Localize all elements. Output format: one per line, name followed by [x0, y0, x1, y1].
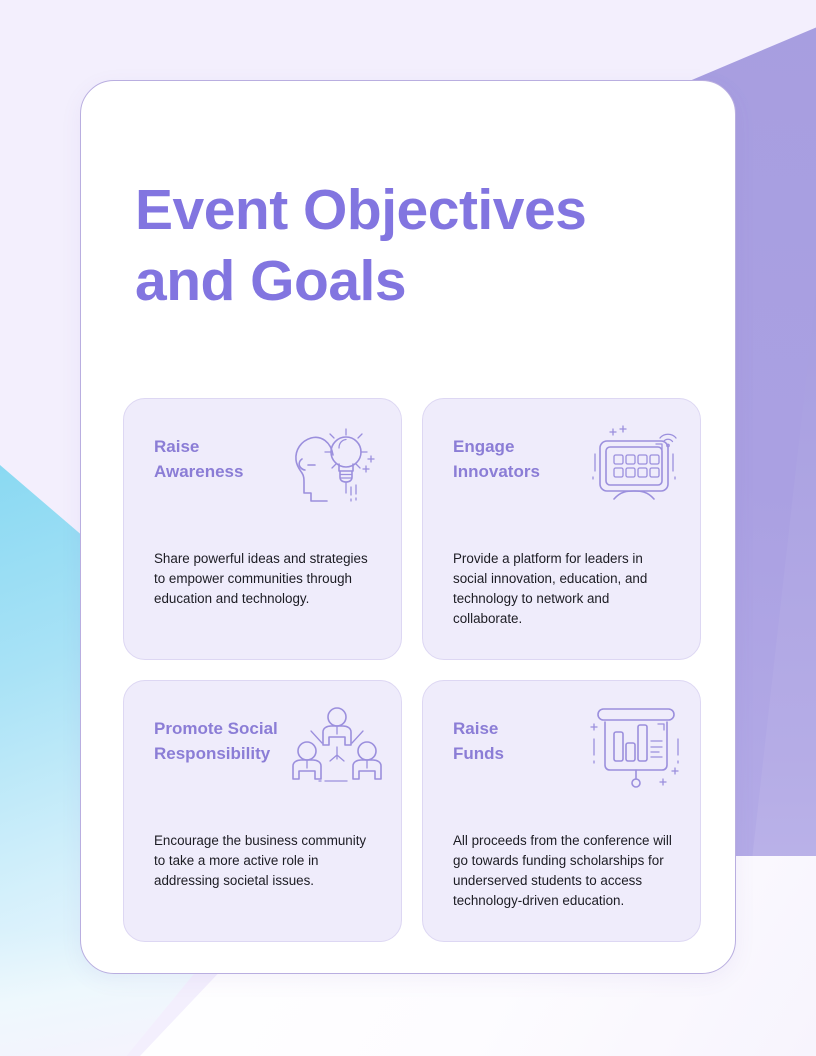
three-people-network-icon	[289, 703, 385, 793]
head-lightbulb-icon	[289, 421, 385, 511]
presentation-bar-chart-icon	[588, 703, 684, 793]
objective-card-title: Raise Funds	[453, 717, 593, 766]
objective-card-title: Engage Innovators	[453, 435, 593, 484]
objective-card-engage-innovators[interactable]: Engage Innovators	[422, 398, 701, 660]
objective-card-description: Encourage the business community to take…	[154, 831, 379, 891]
objective-card-raise-awareness[interactable]: Raise Awareness	[123, 398, 402, 660]
objective-card-raise-funds[interactable]: Raise Funds	[422, 680, 701, 942]
objective-card-description: Provide a platform for leaders in social…	[453, 549, 678, 629]
tablet-wifi-icon	[588, 421, 684, 511]
objectives-grid: Raise Awareness	[123, 398, 701, 942]
objective-card-description: Share powerful ideas and strategies to e…	[154, 549, 379, 609]
objective-card-promote-social-responsibility[interactable]: Promote Social Responsibility	[123, 680, 402, 942]
objective-card-description: All proceeds from the conference will go…	[453, 831, 678, 911]
objective-card-title: Promote Social Responsibility	[154, 717, 294, 766]
content-sheet: Event Objectives and Goals Raise Awarene…	[80, 80, 736, 974]
page-title: Event Objectives and Goals	[135, 175, 695, 316]
poster-canvas: Event Objectives and Goals Raise Awarene…	[0, 0, 816, 1056]
objective-card-title: Raise Awareness	[154, 435, 294, 484]
